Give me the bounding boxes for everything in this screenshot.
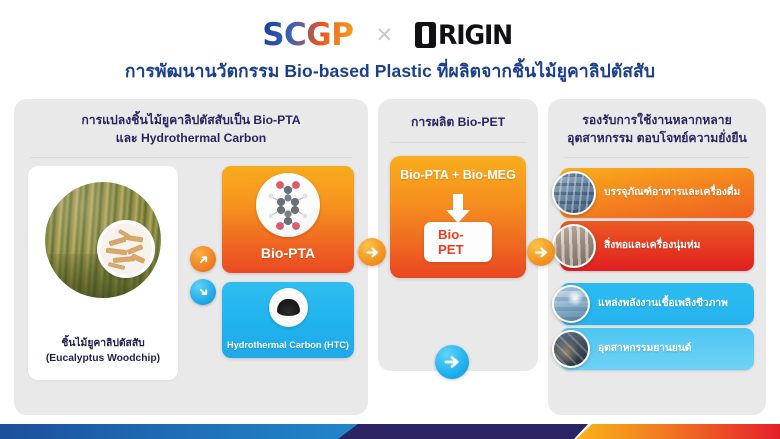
application-label: บรรจุภัณฑ์อาหารและเครื่องดื่ม bbox=[604, 187, 740, 199]
eucalyptus-forest-photo bbox=[45, 182, 161, 298]
application-food-beverage-packaging: บรรจุภัณฑ์อาหารและเครื่องดื่ม bbox=[560, 168, 754, 218]
panel-production-body: Bio-PTA + Bio-MEG Bio-PET bbox=[378, 143, 538, 348]
bio-pta-label: Bio-PTA bbox=[222, 245, 354, 261]
htc-powder-bubble bbox=[269, 288, 308, 327]
panel-applications-heading: รองรับการใช้งานหลากหลาย อุตสาหกรรม ตอบโจ… bbox=[548, 99, 766, 157]
applications-list: บรรจุภัณฑ์อาหารและเครื่องดื่ม สิ่งทอและเ… bbox=[548, 158, 766, 370]
textile-icon bbox=[552, 224, 596, 268]
panel-conversion: การแปลงชิ้นไม้ยูคาลิปตัสสับเป็น Bio-PTA … bbox=[14, 99, 368, 415]
application-bioenergy: แหล่งพลังงานเชื้อเพลิงชีวภาพ bbox=[560, 283, 754, 325]
woodchip-label-th: ชิ้นไม้ยูคาลิปตัสสับ bbox=[28, 336, 178, 351]
automotive-icon bbox=[552, 330, 590, 368]
page-title: การพัฒนานวัตกรรม Bio-based Plastic ที่ผล… bbox=[0, 61, 780, 83]
panel-production-heading: การผลิต Bio-PET bbox=[378, 99, 538, 142]
terephthalic-acid-molecule-icon bbox=[256, 173, 320, 237]
panel-production: การผลิต Bio-PET Bio-PTA + Bio-MEG Bio-PE… bbox=[378, 99, 538, 371]
htc-label: Hydrothermal Carbon (HTC) bbox=[222, 340, 354, 350]
woodchip-label: ชิ้นไม้ยูคาลิปตัสสับ (Eucalyptus Woodchi… bbox=[28, 336, 178, 367]
flow-arrow-middle-to-right-icon bbox=[527, 238, 555, 266]
bio-pta-card: Bio-PTA bbox=[222, 166, 354, 273]
panel-applications-heading-line2: อุตสาหกรรม ตอบโจทย์ความยั่งยืน bbox=[556, 130, 758, 148]
collab-cross-icon: ✕ bbox=[375, 25, 393, 46]
ribbon-segment-warm bbox=[576, 424, 780, 439]
panel-conversion-heading-line2: และ Hydrothermal Carbon bbox=[22, 130, 360, 148]
bottom-ribbon bbox=[0, 417, 780, 439]
bio-pet-output-chip: Bio-PET bbox=[424, 222, 492, 262]
woodchip-closeup-photo bbox=[97, 220, 155, 278]
infographic-root: SCGP ✕ RIGIN การพัฒนานวัตกรรม Bio-based … bbox=[0, 0, 780, 439]
application-textiles: สิ่งทอและเครื่องนุ่มห่ม bbox=[560, 221, 754, 271]
bioenergy-icon bbox=[552, 285, 590, 323]
ribbon-segment-navy bbox=[338, 424, 588, 439]
htc-card: Hydrothermal Carbon (HTC) bbox=[222, 282, 354, 358]
scgp-logo: SCGP bbox=[262, 20, 353, 51]
reaction-inputs-label: Bio-PTA + Bio-MEG bbox=[390, 168, 526, 182]
arrow-up-right-icon bbox=[190, 246, 216, 272]
panel-conversion-heading: การแปลงชิ้นไม้ยูคาลิปตัสสับเป็น Bio-PTA … bbox=[14, 99, 368, 157]
panel-conversion-heading-line1: การแปลงชิ้นไม้ยูคาลิปตัสสับเป็น Bio-PTA bbox=[22, 112, 360, 130]
bio-pta-molecule-bubble bbox=[256, 173, 320, 237]
bio-pet-reaction-card: Bio-PTA + Bio-MEG Bio-PET bbox=[390, 156, 526, 278]
panel-applications: รองรับการใช้งานหลากหลาย อุตสาหกรรม ตอบโจ… bbox=[548, 99, 766, 415]
flow-arrow-left-to-middle-icon bbox=[358, 238, 386, 266]
application-label: อุตสาหกรรมยานยนต์ bbox=[598, 343, 691, 355]
carbon-powder-icon bbox=[277, 299, 300, 316]
panel-conversion-body: ชิ้นไม้ยูคาลิปตัสสับ (Eucalyptus Woodchi… bbox=[14, 158, 368, 401]
application-label: แหล่งพลังงานเชื้อเพลิงชีวภาพ bbox=[598, 298, 728, 310]
application-label: สิ่งทอและเครื่องนุ่มห่ม bbox=[604, 240, 700, 252]
origin-mark-icon bbox=[415, 22, 436, 48]
application-automotive: อุตสาหกรรมยานยนต์ bbox=[560, 328, 754, 370]
packaging-icon bbox=[552, 171, 596, 215]
panel-applications-heading-line1: รองรับการใช้งานหลากหลาย bbox=[556, 112, 758, 130]
origin-logo: RIGIN bbox=[415, 22, 518, 49]
ribbon-segment-blue bbox=[0, 424, 372, 439]
woodchip-label-en: (Eucalyptus Woodchip) bbox=[28, 351, 178, 366]
list-gap bbox=[560, 274, 754, 283]
flow-arrow-downstream-icon bbox=[435, 345, 469, 379]
origin-wordmark: RIGIN bbox=[438, 22, 512, 49]
brand-bar: SCGP ✕ RIGIN bbox=[0, 14, 780, 56]
woodchip-card: ชิ้นไม้ยูคาลิปตัสสับ (Eucalyptus Woodchi… bbox=[28, 166, 178, 380]
arrow-down-right-icon bbox=[190, 279, 216, 305]
